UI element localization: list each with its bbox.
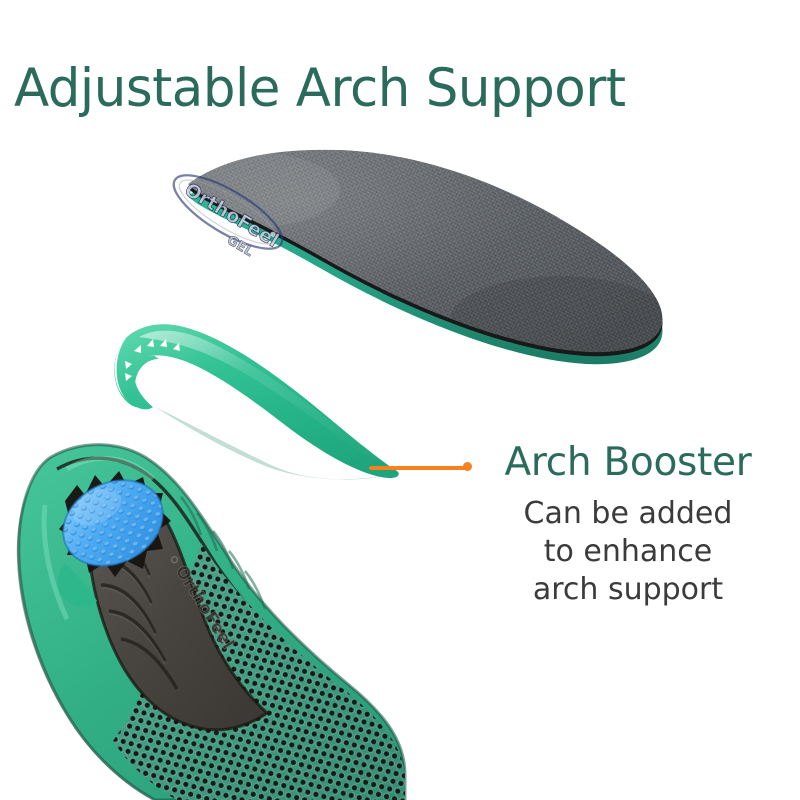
page-title: Adjustable Arch Support — [14, 58, 732, 120]
callout-body: Can be added to enhance arch support — [452, 495, 800, 609]
product-feature-image: Adjustable Arch Support — [0, 0, 800, 800]
callout-body-line-3: arch support — [452, 571, 800, 609]
callout-title: Arch Booster — [452, 441, 800, 485]
bottom-insole-image: OrthoFeel — [5, 435, 405, 800]
callout-body-line-2: to enhance — [452, 533, 800, 571]
callout-body-line-1: Can be added — [452, 495, 800, 533]
arch-booster-callout: Arch Booster Can be added to enhance arc… — [452, 441, 800, 609]
